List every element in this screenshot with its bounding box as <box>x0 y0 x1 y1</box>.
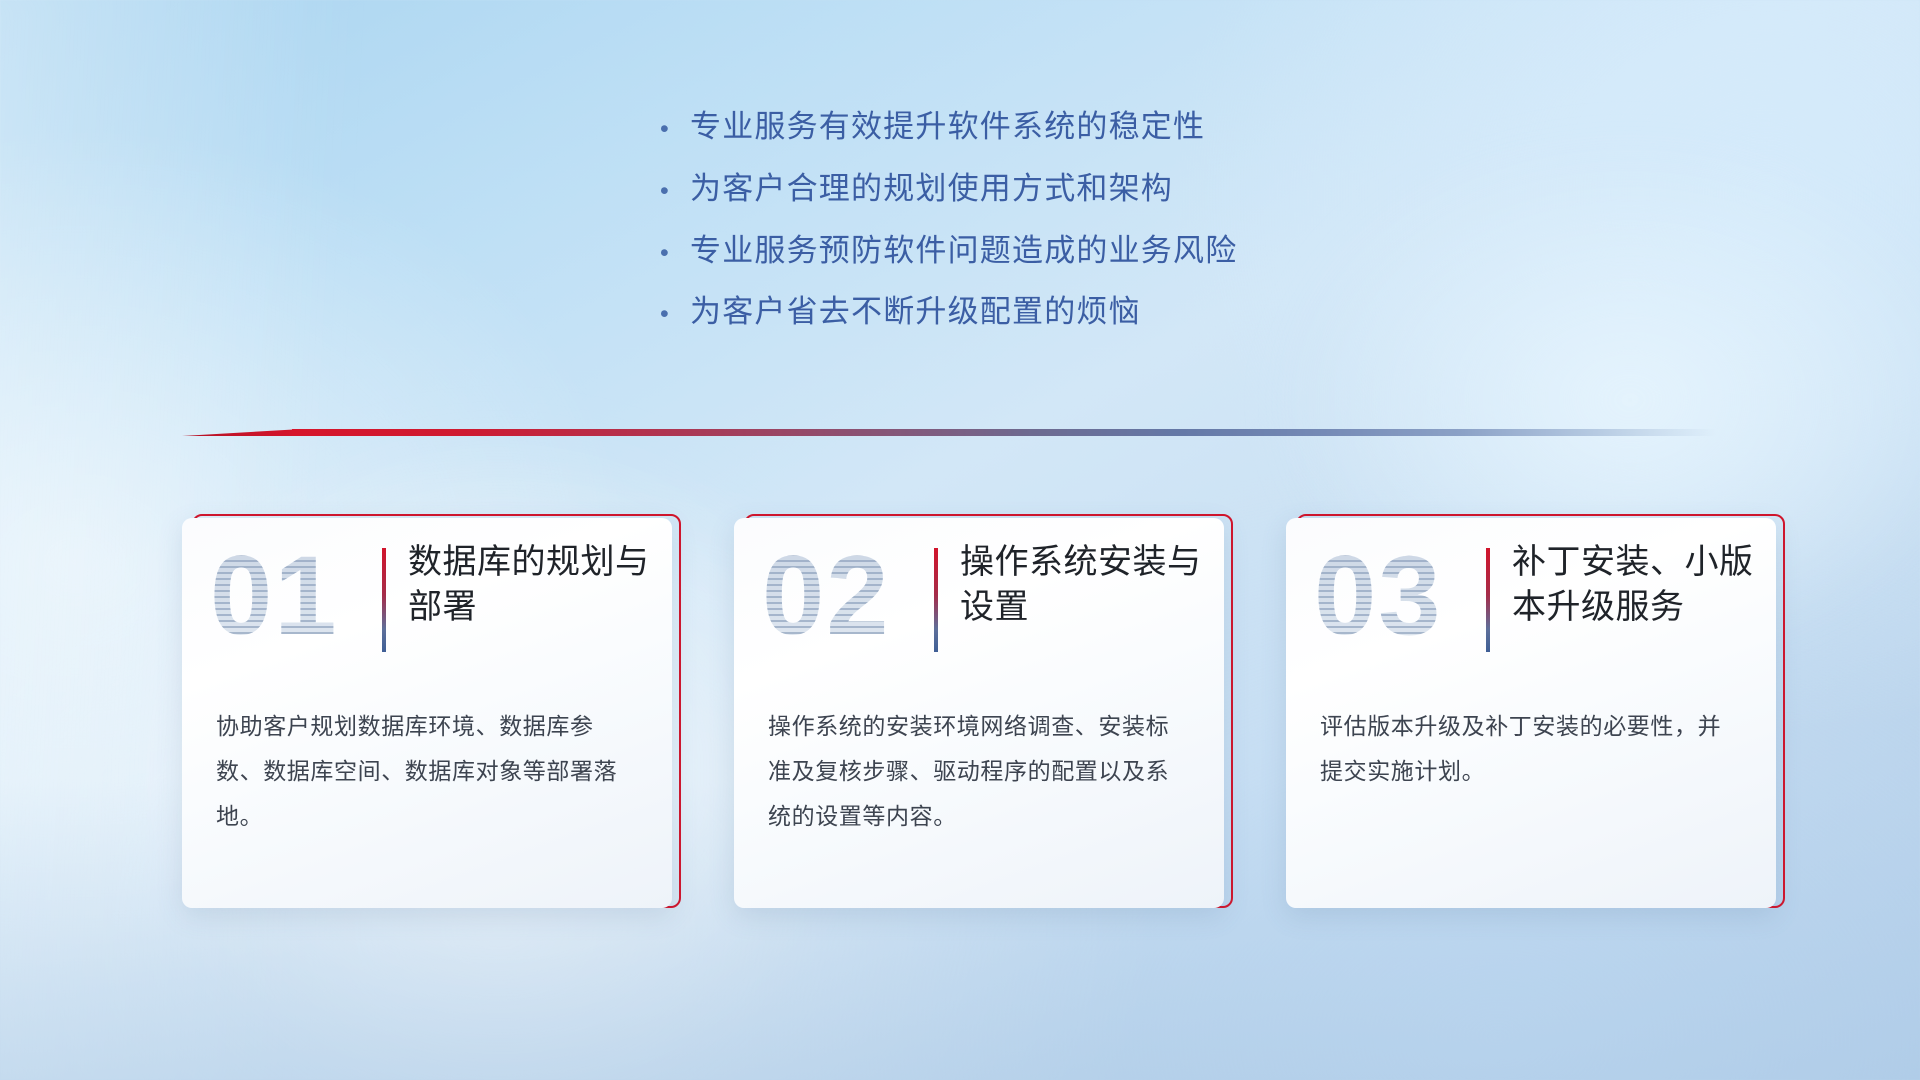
card-panel: 01 数据库的规划与部署 协助客户规划数据库环境、数据库参数、数据库空间、数据库… <box>182 518 672 908</box>
card-header: 02 操作系统安装与设置 <box>734 518 1224 686</box>
card-description: 操作系统的安装环境网络调查、安装标准及复核步骤、驱动程序的配置以及系统的设置等内… <box>768 704 1192 839</box>
service-card-03[interactable]: 03 补丁安装、小版本升级服务 评估版本升级及补丁安装的必要性，并提交实施计划。 <box>1286 518 1782 912</box>
bullet-text: 专业服务有效提升软件系统的稳定性 <box>690 108 1205 147</box>
benefits-bullet-list: • 专业服务有效提升软件系统的稳定性 • 为客户合理的规划使用方式和架构 • 专… <box>660 108 1400 355</box>
list-item: • 专业服务有效提升软件系统的稳定性 <box>660 108 1400 147</box>
bullet-text: 专业服务预防软件问题造成的业务风险 <box>690 232 1237 271</box>
card-description: 协助客户规划数据库环境、数据库参数、数据库空间、数据库对象等部署落地。 <box>216 704 640 839</box>
card-header: 03 补丁安装、小版本升级服务 <box>1286 518 1776 686</box>
service-card-01[interactable]: 01 数据库的规划与部署 协助客户规划数据库环境、数据库参数、数据库空间、数据库… <box>182 518 678 912</box>
card-title: 补丁安装、小版本升级服务 <box>1512 540 1762 630</box>
card-panel: 03 补丁安装、小版本升级服务 评估版本升级及补丁安装的必要性，并提交实施计划。 <box>1286 518 1776 908</box>
card-title: 数据库的规划与部署 <box>408 540 658 630</box>
bullet-dot-icon: • <box>660 302 690 327</box>
card-description: 评估版本升级及补丁安装的必要性，并提交实施计划。 <box>1320 704 1744 794</box>
card-number: 02 <box>762 540 891 652</box>
bullet-dot-icon: • <box>660 179 690 204</box>
card-panel: 02 操作系统安装与设置 操作系统的安装环境网络调查、安装标准及复核步骤、驱动程… <box>734 518 1224 908</box>
section-divider <box>182 424 1716 440</box>
bullet-text: 为客户省去不断升级配置的烦恼 <box>690 293 1141 332</box>
bullet-text: 为客户合理的规划使用方式和架构 <box>690 170 1173 209</box>
list-item: • 为客户省去不断升级配置的烦恼 <box>660 293 1400 332</box>
card-title-rule <box>382 548 386 652</box>
card-header: 01 数据库的规划与部署 <box>182 518 672 686</box>
card-title-rule <box>934 548 938 652</box>
service-cards: 01 数据库的规划与部署 协助客户规划数据库环境、数据库参数、数据库空间、数据库… <box>182 518 1782 912</box>
bullet-dot-icon: • <box>660 241 690 266</box>
service-card-02[interactable]: 02 操作系统安装与设置 操作系统的安装环境网络调查、安装标准及复核步骤、驱动程… <box>734 518 1230 912</box>
card-title-rule <box>1486 548 1490 652</box>
card-number: 01 <box>210 540 339 652</box>
card-number: 03 <box>1314 540 1443 652</box>
card-title: 操作系统安装与设置 <box>960 540 1210 630</box>
list-item: • 专业服务预防软件问题造成的业务风险 <box>660 232 1400 271</box>
list-item: • 为客户合理的规划使用方式和架构 <box>660 170 1400 209</box>
bullet-dot-icon: • <box>660 117 690 142</box>
divider-bar <box>292 429 1716 436</box>
divider-tail <box>182 429 302 436</box>
